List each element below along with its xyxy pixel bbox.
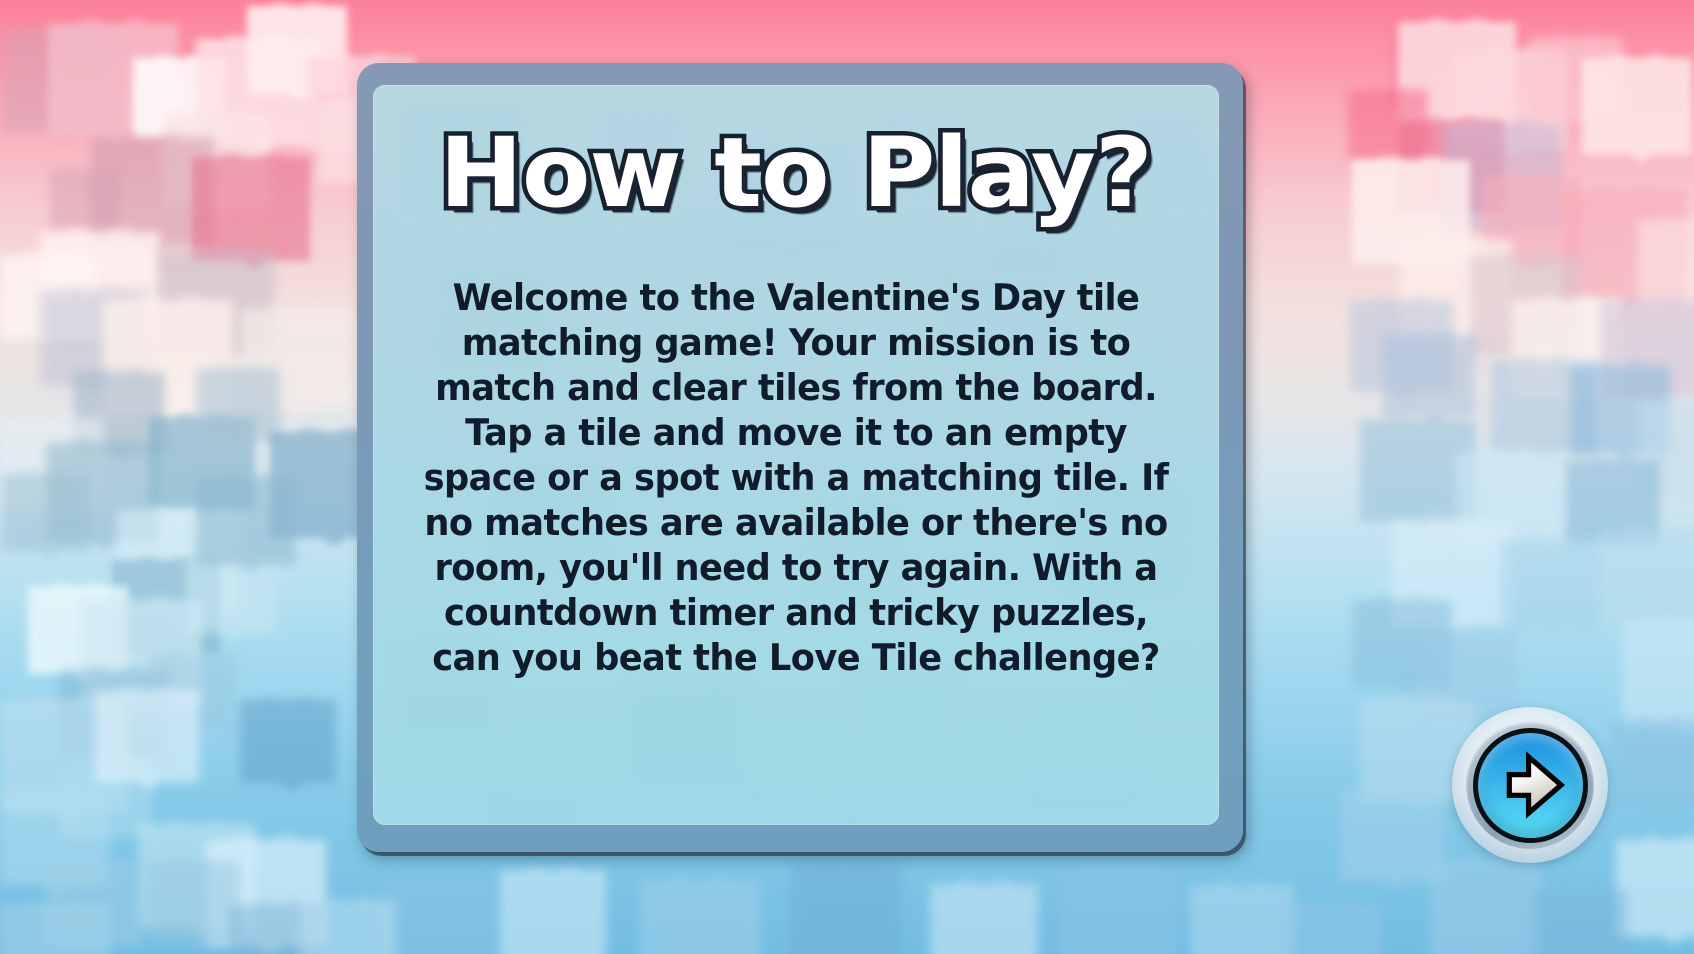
heart-shape — [1610, 720, 1694, 808]
heart-body — [63, 674, 166, 777]
heart-body — [166, 117, 267, 218]
heart-body — [3, 909, 106, 954]
heart-body — [1401, 124, 1501, 224]
heart-body — [1343, 794, 1441, 892]
heart-shape — [45, 860, 143, 946]
heart-body — [1459, 456, 1562, 559]
heart-shape — [1392, 520, 1512, 626]
heart-shape — [1600, 300, 1694, 397]
heart-shape — [1350, 300, 1454, 392]
heart-body — [3, 422, 101, 520]
heart-body — [84, 604, 199, 719]
heart-shape — [103, 300, 233, 414]
heart-body — [244, 313, 349, 418]
heart-body — [250, 9, 344, 103]
heart-body — [200, 43, 315, 158]
heart-shape — [163, 113, 271, 208]
heart-body — [1533, 41, 1619, 127]
heart-shape — [2, 30, 120, 134]
heart-shape — [930, 884, 1038, 954]
heart-shape — [1570, 366, 1670, 454]
heart-body — [1503, 544, 1601, 642]
heart-shape — [138, 824, 256, 928]
heart-shape — [1640, 400, 1694, 497]
heart-body — [503, 874, 603, 954]
heart-shape — [640, 880, 760, 954]
heart-shape — [157, 251, 275, 355]
heart-body — [1063, 870, 1174, 954]
heart-shape — [1360, 420, 1476, 522]
heart-shape — [196, 39, 318, 146]
heart-body — [141, 828, 252, 939]
heart-body — [48, 863, 140, 954]
heart-body — [1353, 304, 1451, 402]
heart-shape — [46, 443, 158, 542]
heart-body — [1385, 337, 1473, 425]
heart-shape — [73, 372, 165, 453]
heart-shape — [192, 157, 310, 261]
heart-shape — [229, 905, 325, 954]
heart-body — [1493, 364, 1593, 464]
heart-shape — [1530, 38, 1622, 119]
heart-shape — [241, 309, 353, 408]
heart-body — [1393, 22, 1491, 120]
next-button[interactable] — [1452, 707, 1608, 863]
heart-body — [44, 236, 157, 349]
heart-body — [1355, 603, 1449, 697]
heart-shape — [0, 255, 95, 339]
heart-body — [94, 141, 211, 258]
heart-shape — [117, 510, 239, 617]
heart-shape — [1348, 90, 1428, 160]
heart-body — [107, 305, 229, 427]
heart-shape — [48, 24, 178, 138]
heart-shape — [1490, 360, 1596, 453]
heart-shape — [1390, 18, 1494, 110]
heart-shape — [1456, 452, 1566, 549]
heart-body — [63, 759, 149, 845]
arrow-right-icon — [1496, 748, 1570, 822]
heart-body — [1193, 889, 1291, 954]
heart-body — [115, 564, 216, 665]
heart-shape — [148, 655, 236, 732]
heart-shape — [1600, 530, 1694, 629]
heart-shape — [0, 418, 104, 510]
heart-shape — [0, 700, 128, 813]
heart-shape — [300, 900, 396, 954]
heart-shape — [790, 862, 902, 954]
heart-shape — [1352, 600, 1452, 688]
heart-body — [1283, 908, 1377, 954]
heart-shape — [1280, 905, 1380, 954]
heart-shape — [60, 670, 170, 767]
heart-shape — [206, 840, 326, 946]
heart-shape — [1442, 124, 1562, 230]
heart-body — [52, 29, 174, 151]
heart-shape — [1512, 300, 1622, 397]
heart-shape — [186, 556, 274, 633]
heart-body — [160, 255, 271, 366]
heart-shape — [1190, 885, 1294, 954]
next-button-disc — [1473, 728, 1588, 843]
how-to-play-panel: How to Play? Welcome to the Valentine's … — [357, 63, 1243, 852]
heart-body — [43, 294, 146, 397]
heart-shape — [1455, 50, 1567, 149]
heart-shape — [95, 690, 199, 782]
heart-shape — [1398, 22, 1516, 126]
heart-body — [1566, 194, 1683, 311]
heart-shape — [50, 169, 120, 231]
heart-shape — [60, 756, 152, 837]
heart-shape — [28, 586, 128, 674]
heart-body — [199, 480, 293, 574]
heart-body — [1626, 624, 1694, 737]
heart-body — [1396, 524, 1509, 637]
heart-shape — [1398, 120, 1504, 213]
heart-body — [1569, 463, 1657, 551]
heart-body — [1619, 844, 1694, 947]
heart-shape — [112, 560, 220, 655]
heart-body — [5, 34, 116, 145]
heart-body — [1401, 26, 1512, 137]
heart-shape — [1382, 334, 1476, 417]
heart-body — [3, 258, 92, 347]
heart-body — [1350, 93, 1425, 168]
heart-shape — [1562, 190, 1686, 299]
heart-shape — [80, 600, 202, 707]
heart-body — [3, 794, 104, 895]
heart-body — [793, 866, 898, 954]
heart-shape — [1340, 790, 1444, 882]
page-title: How to Play? — [440, 125, 1152, 221]
heart-body — [1403, 244, 1508, 349]
heart-shape — [1430, 860, 1542, 954]
heart-shape — [0, 790, 108, 885]
heart-shape — [1500, 540, 1604, 632]
heart-body — [1641, 223, 1694, 313]
heart-body — [31, 589, 125, 683]
heart-body — [644, 884, 757, 954]
heart-shape — [1638, 220, 1694, 304]
heart-body — [152, 421, 252, 521]
heart-shape — [240, 700, 336, 784]
heart-body — [210, 844, 323, 954]
heart-body — [1603, 534, 1694, 639]
heart-body — [52, 171, 118, 237]
heart-shape — [1420, 630, 1518, 716]
heart-body — [136, 61, 222, 147]
panel-content: How to Play? Welcome to the Valentine's … — [373, 85, 1219, 825]
heart-body — [1473, 260, 1578, 365]
heart-body — [189, 559, 272, 642]
next-button-ring — [1466, 721, 1594, 849]
heart-shape — [1470, 256, 1582, 355]
heart-shape — [1060, 866, 1178, 954]
heart-shape — [149, 417, 255, 510]
heart-body — [49, 447, 154, 552]
heart-body — [933, 888, 1034, 954]
heart-body — [98, 694, 196, 792]
heart-shape — [1352, 160, 1470, 264]
heart-shape — [1582, 58, 1692, 155]
heart-body — [151, 865, 237, 951]
heart-body — [1603, 304, 1694, 407]
heart-body — [4, 704, 124, 824]
heart-body — [1458, 54, 1563, 159]
heart-shape — [133, 58, 225, 139]
heart-body — [1613, 723, 1694, 817]
heart-shape — [196, 368, 280, 442]
heart-shape — [148, 862, 240, 943]
heart-body — [1515, 304, 1618, 407]
heart-body — [1643, 404, 1694, 507]
heart-shape — [0, 905, 110, 954]
heart-shape — [500, 870, 606, 954]
heart-shape — [1400, 240, 1512, 339]
heart-shape — [1530, 890, 1628, 954]
heart-body — [1355, 164, 1466, 275]
heart-shape — [1566, 460, 1660, 543]
heart-body — [1585, 62, 1688, 165]
heart-body — [1573, 369, 1667, 463]
heart-body — [76, 375, 162, 461]
heart-shape — [40, 290, 150, 387]
heart-shape — [1616, 840, 1694, 937]
heart-shape — [1482, 176, 1582, 264]
heart-body — [303, 903, 393, 954]
heart-body — [195, 161, 306, 272]
heart-body — [1485, 179, 1579, 273]
heart-shape — [1622, 620, 1694, 726]
heart-body — [232, 908, 322, 954]
heart-body — [243, 703, 333, 793]
heart-shape — [247, 6, 347, 94]
instructions-text: Welcome to the Valentine's Day tile matc… — [415, 275, 1177, 680]
heart-shape — [2, 474, 90, 551]
heart-body — [198, 371, 277, 450]
heart-body — [151, 658, 234, 741]
heart-body — [1446, 128, 1559, 241]
panel-inner-surface: How to Play? Welcome to the Valentine's … — [373, 85, 1219, 825]
heart-body — [5, 477, 88, 560]
heart-shape — [380, 880, 498, 954]
heart-body — [1363, 424, 1472, 533]
how-to-play-screen: How to Play? Welcome to the Valentine's … — [0, 0, 1694, 954]
heart-shape — [196, 477, 296, 565]
heart-body — [383, 884, 494, 954]
heart-shape — [90, 137, 214, 246]
heart-shape — [40, 232, 160, 338]
heart-body — [1533, 893, 1625, 954]
heart-body — [121, 514, 236, 629]
heart-body — [1433, 864, 1538, 954]
